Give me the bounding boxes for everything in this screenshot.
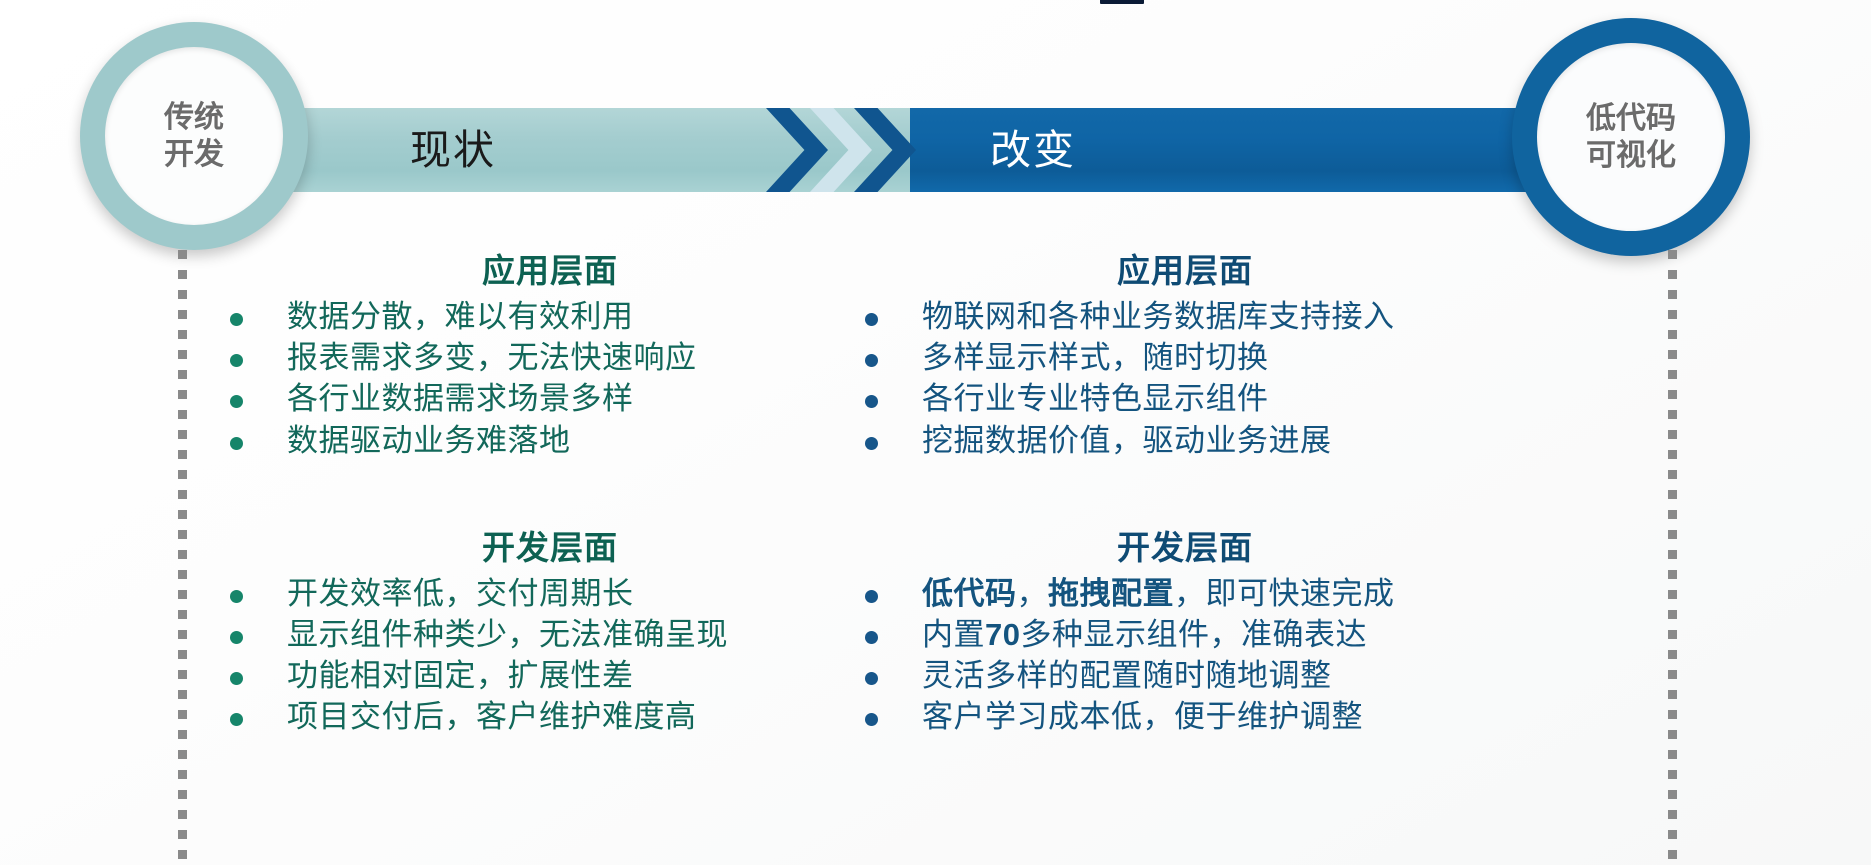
bullet-dot-icon [865,713,878,726]
list-item: 报表需求多变，无法快速响应 [200,339,900,376]
bullet-dot-icon [865,437,878,450]
list-item: 各行业专业特色显示组件 [835,380,1535,417]
list-item-label: 功能相对固定，扩展性差 [287,657,634,694]
list-item: 数据驱动业务难落地 [200,422,900,459]
list-item: 功能相对固定，扩展性差 [200,657,900,694]
slide-canvas: 现状 改变 传统 开发 低代码 可视化 应用层面 数据分散，难以有效利用 报表需… [0,0,1871,865]
bullet-list-right-application: 物联网和各种业务数据库支持接入 多样显示样式，随时切换 各行业专业特色显示组件 … [835,298,1535,459]
list-item-label: 灵活多样的配置随时随地调整 [922,657,1332,694]
list-item: 挖掘数据价值，驱动业务进展 [835,422,1535,459]
list-item-label: 各行业专业特色显示组件 [922,380,1269,417]
endpoint-circle-lowcode: 低代码 可视化 [1512,18,1750,256]
bullet-list-left-development: 开发效率低，交付周期长 显示组件种类少，无法准确呈现 功能相对固定，扩展性差 项… [200,575,900,736]
column-current-state: 应用层面 数据分散，难以有效利用 报表需求多变，无法快速响应 各行业数据需求场景… [200,244,900,740]
bullet-dot-icon [865,395,878,408]
dashed-divider-right [1668,250,1677,865]
list-item-label: 报表需求多变，无法快速响应 [287,339,697,376]
list-item: 灵活多样的配置随时随地调整 [835,657,1535,694]
bullet-dot-icon [865,631,878,644]
bullet-dot-icon [230,313,243,326]
endpoint-circle-traditional-inner: 传统 开发 [105,47,283,225]
list-item-label: 开发效率低，交付周期长 [287,575,634,612]
bullet-list-left-application: 数据分散，难以有效利用 报表需求多变，无法快速响应 各行业数据需求场景多样 数据… [200,298,900,459]
endpoint-right-line2: 可视化 [1586,137,1676,175]
list-item-label: 多样显示样式，随时切换 [922,339,1269,376]
bullet-dot-icon [865,672,878,685]
list-item-label: 低代码，拖拽配置，即可快速完成 [922,575,1395,612]
list-item-label: 内置70多种显示组件，准确表达 [922,616,1367,653]
bullet-dot-icon [230,631,243,644]
bullet-dot-icon [230,672,243,685]
bullet-dot-icon [230,437,243,450]
endpoint-circle-traditional: 传统 开发 [80,22,308,250]
endpoint-circle-lowcode-inner: 低代码 可视化 [1537,43,1725,231]
banner-label-current: 现状 [410,108,496,192]
section-spacer [200,463,900,521]
list-item-label: 显示组件种类少，无法准确呈现 [287,616,728,653]
list-item: 物联网和各种业务数据库支持接入 [835,298,1535,335]
section-spacer [835,463,1535,521]
bullet-dot-icon [865,590,878,603]
list-item-label: 物联网和各种业务数据库支持接入 [922,298,1395,335]
list-item: 各行业数据需求场景多样 [200,380,900,417]
bullet-dot-icon [230,713,243,726]
section-heading-application: 应用层面 [835,244,1535,292]
section-heading-development: 开发层面 [835,521,1535,569]
endpoint-left-line2: 开发 [164,136,224,174]
bullet-list-right-development: 低代码，拖拽配置，即可快速完成 内置70多种显示组件，准确表达 灵活多样的配置随… [835,575,1535,736]
list-item: 显示组件种类少，无法准确呈现 [200,616,900,653]
transition-banner: 现状 改变 [150,108,1720,192]
bullet-dot-icon [230,395,243,408]
endpoint-right-line1: 低代码 [1586,100,1676,138]
cut-off-title-fragment [1100,0,1144,4]
bullet-dot-icon [865,313,878,326]
list-item: 数据分散，难以有效利用 [200,298,900,335]
section-heading-application: 应用层面 [200,244,900,292]
section-heading-development: 开发层面 [200,521,900,569]
bullet-dot-icon [865,354,878,367]
list-item: 多样显示样式，随时切换 [835,339,1535,376]
list-item-label: 客户学习成本低，便于维护调整 [922,698,1363,735]
list-item: 项目交付后，客户维护难度高 [200,698,900,735]
list-item-label: 数据分散，难以有效利用 [287,298,634,335]
column-change-state: 应用层面 物联网和各种业务数据库支持接入 多样显示样式，随时切换 各行业专业特色… [835,244,1535,740]
list-item-label: 数据驱动业务难落地 [287,422,571,459]
list-item-label: 挖掘数据价值，驱动业务进展 [922,422,1332,459]
dashed-divider-left [178,250,187,865]
list-item-label: 各行业数据需求场景多样 [287,380,634,417]
list-item: 低代码，拖拽配置，即可快速完成 [835,575,1535,612]
banner-label-change: 改变 [990,108,1076,192]
list-item-label: 项目交付后，客户维护难度高 [287,698,697,735]
list-item: 开发效率低，交付周期长 [200,575,900,612]
list-item: 客户学习成本低，便于维护调整 [835,698,1535,735]
endpoint-left-line1: 传统 [164,99,224,137]
bullet-dot-icon [230,354,243,367]
list-item: 内置70多种显示组件，准确表达 [835,616,1535,653]
bullet-dot-icon [230,590,243,603]
